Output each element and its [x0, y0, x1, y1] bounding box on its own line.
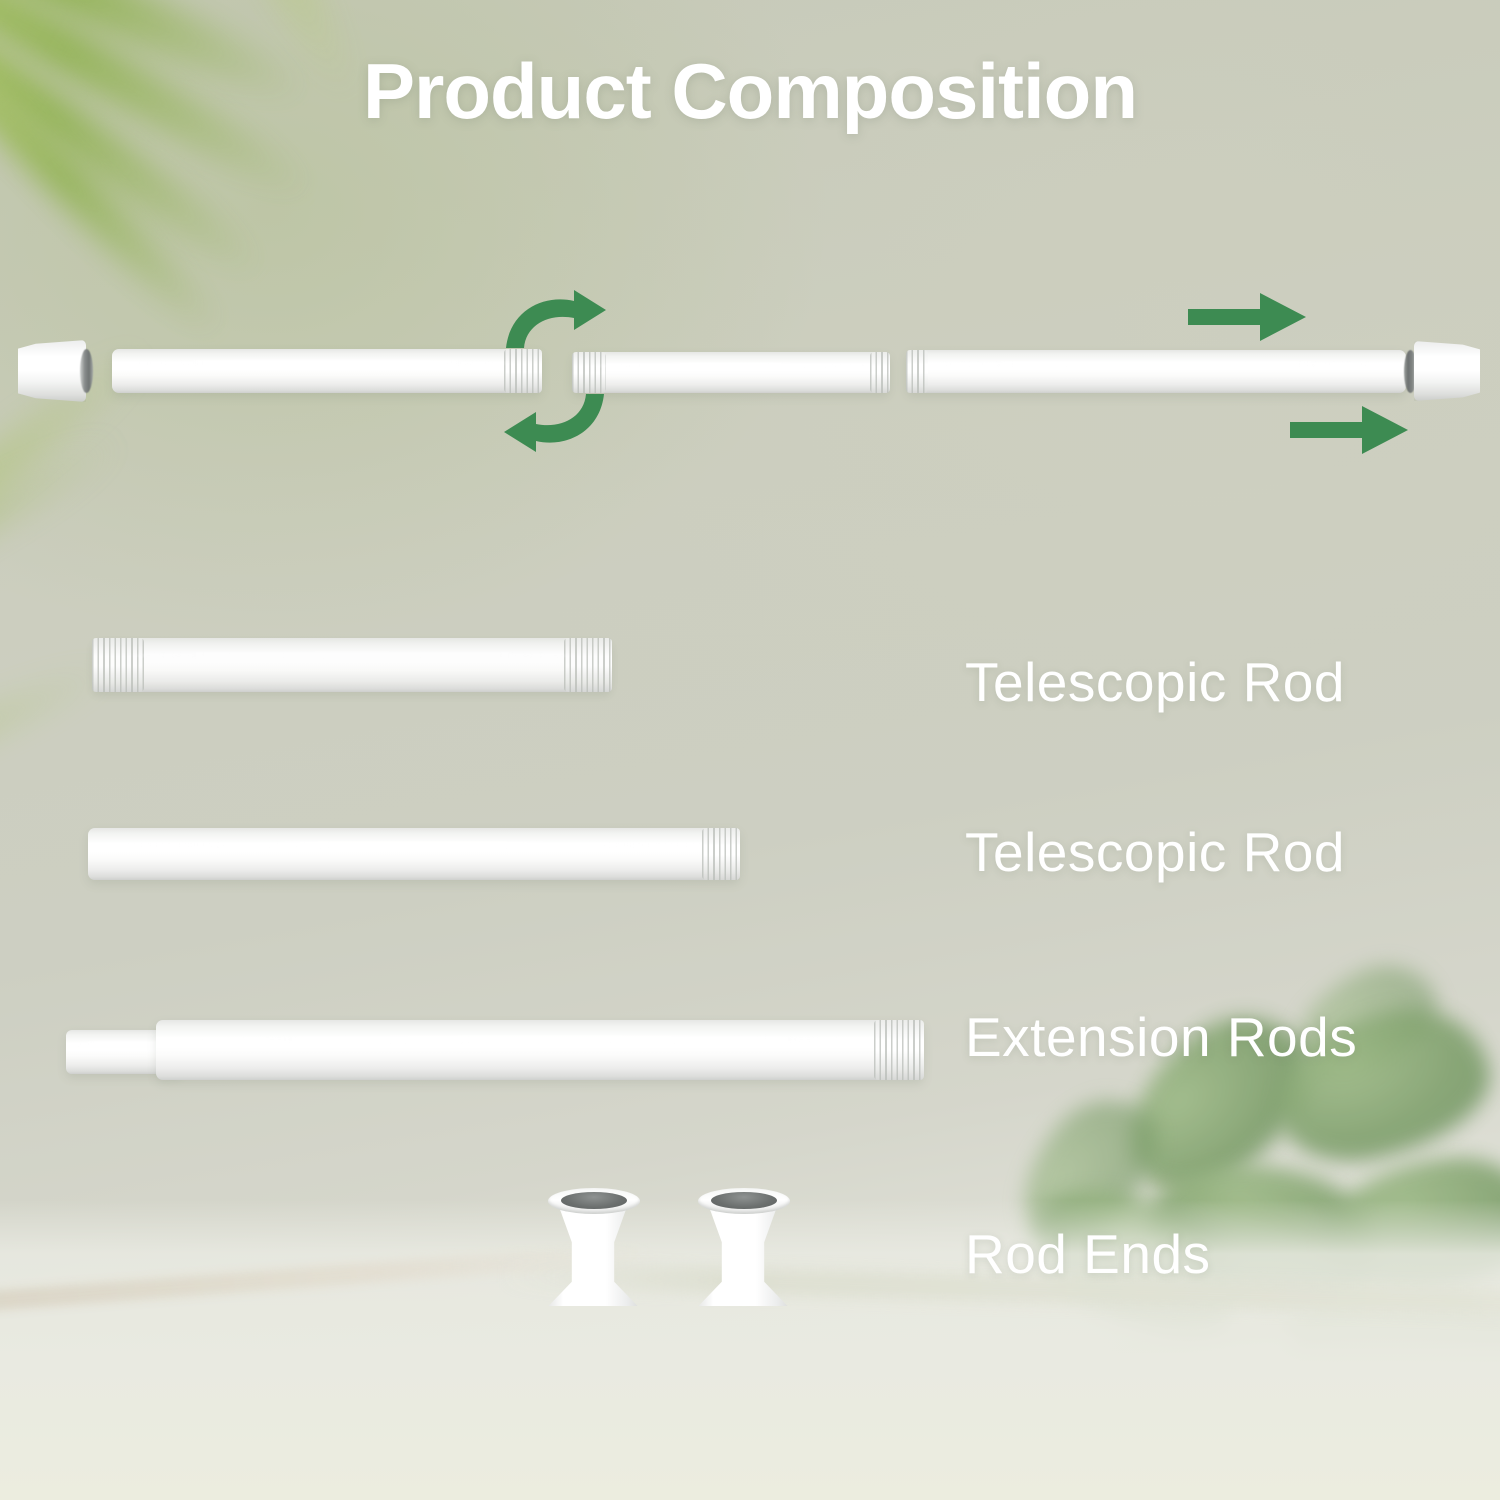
rod-end-cap-b-bore — [711, 1192, 777, 1209]
extend-arrow-lower — [1290, 406, 1408, 454]
telescopic-rod-2-thread-right — [702, 828, 740, 880]
rod-segment-2-thread-right — [870, 352, 890, 393]
telescopic-rod-2-icon — [88, 828, 740, 880]
rod-end-cap-left-bore — [80, 349, 93, 393]
telescopic-rod-1-icon — [92, 638, 612, 692]
component-label-extension-rods: Extension Rods — [965, 1005, 1357, 1069]
extension-rods-icon — [156, 1020, 924, 1080]
extension-rod-thread-right — [874, 1020, 924, 1080]
component-label-rod-ends: Rod Ends — [965, 1222, 1211, 1286]
extend-arrow-upper — [1188, 293, 1306, 341]
page-title: Product Composition — [0, 46, 1500, 137]
rotate-clockwise-arrow — [500, 288, 610, 350]
palm-frond-icon — [0, 422, 130, 593]
product-composition-infographic: Product Composition — [0, 0, 1500, 1500]
component-label-telescopic-rod-2: Telescopic Rod — [965, 820, 1345, 884]
rod-segment-3 — [906, 350, 1406, 393]
telescopic-rod-1-thread-right — [564, 638, 612, 692]
rod-end-cap-a-bore — [561, 1192, 627, 1209]
rod-segment-1 — [112, 349, 542, 393]
rod-segment-1-thread-right — [504, 349, 542, 393]
palm-frond-icon — [0, 0, 276, 291]
rotate-counterclockwise-arrow — [500, 392, 610, 454]
telescopic-rod-1-thread-left — [92, 638, 144, 692]
rod-end-cap-left — [18, 340, 86, 402]
rod-end-cap-right — [1414, 341, 1480, 401]
rod-segment-2-thread-left — [572, 352, 606, 393]
rod-segment-2 — [572, 352, 890, 393]
rod-segment-3-thread-left — [906, 350, 928, 393]
component-label-telescopic-rod-1: Telescopic Rod — [965, 650, 1345, 714]
